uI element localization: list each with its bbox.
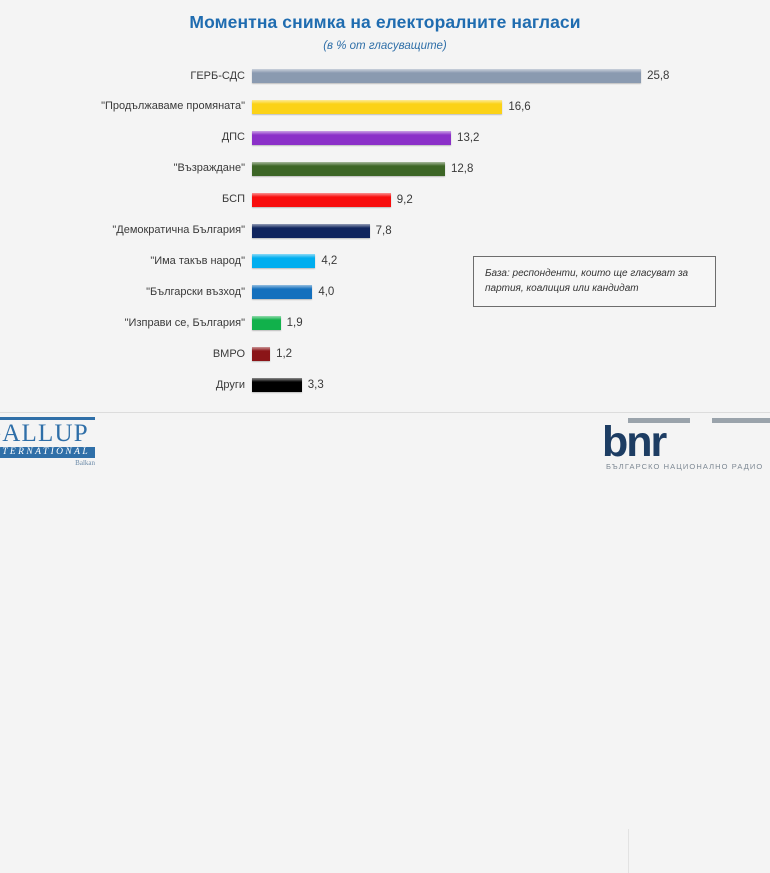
- gallup-logo-subtitle: INTERNATIONAL: [0, 447, 95, 458]
- bar: [252, 316, 281, 330]
- bar-row: ВМРО1,2: [0, 342, 770, 366]
- bar-row: "Демократична България"7,8: [0, 219, 770, 243]
- gallup-international-logo: GALLUP INTERNATIONAL Balkan: [0, 417, 103, 467]
- bar-value-label: 16,6: [508, 101, 530, 113]
- chart-card: Моментна снимка на електоралните нагласи…: [0, 0, 770, 462]
- bar: [252, 162, 445, 176]
- bar-track: 9,2: [252, 188, 770, 212]
- bar-chart-plot-area: ГЕРБ-СДС25,8"Продължаваме промяната"16,6…: [0, 64, 770, 404]
- bar-track: 25,8: [252, 64, 770, 88]
- bnr-logo-wordmark: bnr: [602, 424, 770, 460]
- bar-row: ДПС13,2: [0, 126, 770, 150]
- bar-track: 7,8: [252, 219, 770, 243]
- bar-category-label: "Има такъв народ": [0, 255, 252, 268]
- bar-value-label: 12,8: [451, 163, 473, 175]
- bar: [252, 285, 312, 299]
- gallup-logo-country: Balkan: [0, 459, 95, 467]
- bar-value-label: 7,8: [376, 225, 392, 237]
- bar: [252, 193, 391, 207]
- bar: [252, 347, 270, 361]
- bar-track: 1,2: [252, 342, 770, 366]
- page-title: Моментна снимка на електоралните нагласи: [0, 12, 770, 33]
- bar-category-label: ДПС: [0, 131, 252, 144]
- bar-track: 12,8: [252, 157, 770, 181]
- bnr-logo-subtitle: БЪЛГАРСКО НАЦИОНАЛНО РАДИО: [606, 462, 770, 471]
- bnr-logo: bnr БЪЛГАРСКО НАЦИОНАЛНО РАДИО: [602, 418, 770, 471]
- bar-track: 3,3: [252, 373, 770, 397]
- bar-track: 1,9: [252, 311, 770, 335]
- bar-value-label: 25,8: [647, 70, 669, 82]
- bar-category-label: "Изправи се, България": [0, 317, 252, 330]
- bar-row: ГЕРБ-СДС25,8: [0, 64, 770, 88]
- bar-row: "Възраждане"12,8: [0, 157, 770, 181]
- bar-row: БСП9,2: [0, 188, 770, 212]
- bar-category-label: "Български възход": [0, 286, 252, 299]
- bar-value-label: 4,2: [321, 255, 337, 267]
- bar: [252, 100, 502, 114]
- bar-category-label: ГЕРБ-СДС: [0, 70, 252, 83]
- bar-row: Други3,3: [0, 373, 770, 397]
- annotation-box: База: респонденти, които ще гласуват за …: [473, 256, 716, 307]
- chart-subtitle: (в % от гласуващите): [0, 40, 770, 52]
- bar-row: "Продължаваме промяната"16,6: [0, 95, 770, 119]
- bar-category-label: "Продължаваме промяната": [0, 100, 252, 113]
- bar: [252, 131, 451, 145]
- bar-track: 16,6: [252, 95, 770, 119]
- bar-category-label: "Възраждане": [0, 162, 252, 175]
- title-block: Моментна снимка на електоралните нагласи…: [0, 12, 770, 52]
- bar: [252, 378, 302, 392]
- bar-track: 13,2: [252, 126, 770, 150]
- gallup-logo-wordmark: GALLUP: [0, 421, 103, 446]
- bar-value-label: 1,9: [287, 317, 303, 329]
- bar: [252, 224, 370, 238]
- bar-category-label: ВМРО: [0, 348, 252, 361]
- bar-value-label: 9,2: [397, 194, 413, 206]
- bar-category-label: "Демократична България": [0, 224, 252, 237]
- bar-category-label: БСП: [0, 193, 252, 206]
- bar-row: "Изправи се, България"1,9: [0, 311, 770, 335]
- bar-value-label: 13,2: [457, 132, 479, 144]
- bar-value-label: 4,0: [318, 286, 334, 298]
- bnr-dash-right: [712, 418, 770, 423]
- footer: GALLUP INTERNATIONAL Balkan bnr БЪЛГАРСК…: [0, 412, 770, 462]
- bar-category-label: Други: [0, 379, 252, 392]
- bar-value-label: 3,3: [308, 379, 324, 391]
- footer-divider: [628, 829, 629, 873]
- bar: [252, 254, 315, 268]
- bar: [252, 69, 641, 83]
- annotation-text: База: респонденти, които ще гласуват за …: [485, 268, 688, 294]
- bar-value-label: 1,2: [276, 348, 292, 360]
